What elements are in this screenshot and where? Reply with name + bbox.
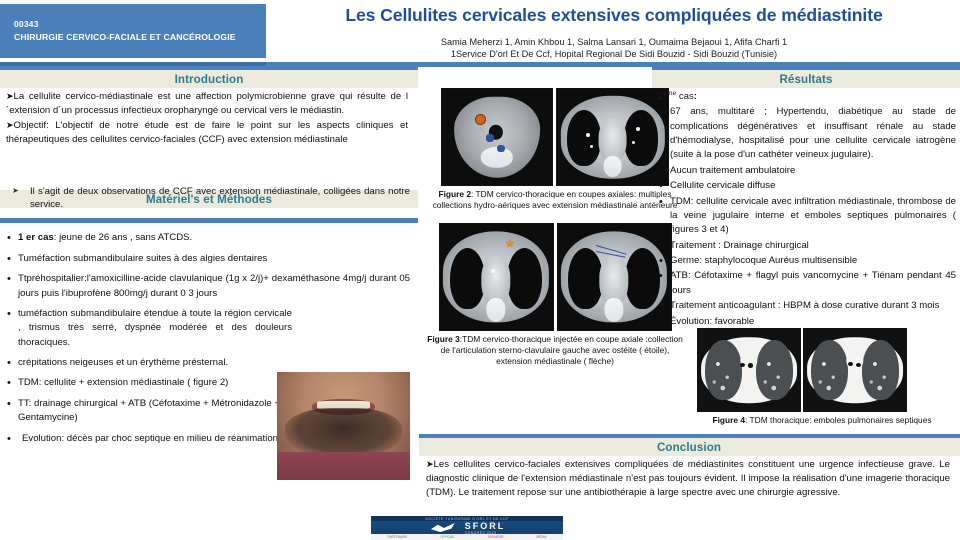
poster-root: 00343 CHIRURGIE CERVICO-FACIALE ET CANCÉ… bbox=[0, 0, 960, 540]
intro-text-2: Objectif: L'objectif de notre étude est … bbox=[6, 120, 408, 145]
conclusion-paragraph: ➤Les cellulites cervico-faciales extensi… bbox=[418, 458, 960, 500]
logo-partner-strip: PARTENAIRE OFFICIEL SPONSOR MÉDIA bbox=[371, 534, 563, 540]
section-title-conclusion: Conclusion bbox=[657, 441, 721, 454]
photo-shirt bbox=[277, 452, 410, 480]
congress-logo: SOCIÉTÉ TUNISIENNE D'ORL ET DE CCF SFORL… bbox=[371, 516, 563, 540]
list-item: Traitement : Drainage chirurgical bbox=[652, 239, 956, 253]
ct-lung-left bbox=[567, 110, 601, 166]
column-right: 2ème cas: 67 ans, multitaré ; Hypertendu… bbox=[652, 88, 960, 330]
ct-lung-right bbox=[507, 248, 542, 309]
logo-name: SFORL bbox=[465, 521, 506, 531]
list-item: tuméfaction submandibulaire étendue à to… bbox=[0, 307, 410, 350]
logo-partner-3: MÉDIA bbox=[536, 535, 546, 539]
list-item: Évolution: favorable bbox=[652, 315, 956, 329]
list-item: 1 er cas: jeune de 26 ans , sans ATCDS. bbox=[0, 231, 410, 245]
list-item: TDM: cellulite cervicale avec infiltrati… bbox=[652, 195, 956, 238]
ct-lung-window bbox=[804, 329, 906, 411]
section-header-introduction: Introduction bbox=[0, 66, 418, 88]
figure-3-label: Figure 3 bbox=[427, 334, 460, 344]
figure-3-caption: Figure 3:TDM cervico-thoracique injectée… bbox=[420, 331, 690, 367]
bullet-arrow-icon: ➤ bbox=[426, 460, 434, 470]
intro-paragraph-2: ➤Objectif: L'objectif de notre étude est… bbox=[0, 119, 418, 147]
ct-image-lung-window-2 bbox=[803, 328, 907, 412]
ct-hilum bbox=[748, 363, 753, 367]
authors-line: Samia Meherzi 1, Amin Khbou 1, Salma Lan… bbox=[272, 36, 956, 48]
conclusion-body: ➤Les cellulites cervico-faciales extensi… bbox=[418, 458, 960, 500]
logo-partner-1: OFFICIEL bbox=[440, 535, 454, 539]
affiliation-line: 1Service D'orl Et De Ccf, Hopital Region… bbox=[272, 48, 956, 60]
introduction-body: ➤La cellulite cervico-médiastinale est u… bbox=[0, 88, 418, 147]
section-title-resultats: Résultats bbox=[779, 73, 832, 86]
spacer bbox=[420, 211, 690, 223]
logo-main: SFORL CONGRÈS 2023 bbox=[371, 521, 563, 534]
logo-partner-0: PARTENAIRE bbox=[387, 535, 407, 539]
column-middle: Figure 2: TDM cervico-thoracique en coup… bbox=[420, 88, 690, 367]
ct-vertebra bbox=[603, 156, 622, 177]
abstract-code: 00343 bbox=[14, 18, 266, 31]
figure-4-caption-text: : TDM thoracique: emboles pulmonaires se… bbox=[745, 415, 932, 425]
ct-lung-field-right bbox=[756, 340, 793, 399]
figure-4-label: Figure 4 bbox=[712, 415, 745, 425]
section-header-resultats: Résultats bbox=[652, 66, 960, 88]
department-label: CHIRURGIE CERVICO-FACIALE ET CANCÉROLOGI… bbox=[14, 31, 266, 44]
logo-bird-icon bbox=[429, 522, 459, 533]
ct-hilum bbox=[848, 362, 853, 366]
bullet-arrow-icon: ➤ bbox=[6, 121, 14, 131]
logo-text-block: SFORL CONGRÈS 2023 bbox=[465, 521, 506, 535]
list-item: crépitations neigeuses et un érythème pr… bbox=[0, 356, 410, 370]
intro-paragraph-1: ➤La cellulite cervico-médiastinale est u… bbox=[0, 90, 418, 118]
ct-image-lung-window-1 bbox=[697, 328, 801, 412]
materiel-arrow-item: Il s'agit de deux observations de CCF av… bbox=[0, 185, 418, 213]
header-title-block: Les Cellulites cervicales extensives com… bbox=[272, 2, 956, 61]
column-divider bbox=[418, 88, 419, 488]
figure-4-images bbox=[697, 328, 907, 412]
figure-3-images: ★ bbox=[420, 223, 690, 331]
ct-image-neck-axial bbox=[441, 88, 553, 186]
case2-word: cas bbox=[676, 91, 694, 102]
ct-lung-left bbox=[568, 248, 603, 309]
ct-hilum bbox=[856, 363, 861, 367]
ct-air-bubble bbox=[586, 133, 590, 137]
ct-arrow-marker-2 bbox=[497, 145, 505, 153]
list-item: Ttpréhospitalier:l'amoxicilline-acide cl… bbox=[0, 272, 410, 301]
materiel-divider bbox=[0, 218, 418, 223]
star-marker-icon: ★ bbox=[505, 238, 515, 249]
list-item: Germe: staphylocoque Auréus multisensibl… bbox=[652, 254, 956, 268]
ct-lung-left bbox=[450, 248, 485, 309]
figure-4-caption: Figure 4: TDM thoracique: emboles pulmon… bbox=[684, 415, 960, 425]
list-item: Aucun traitement ambulatoire bbox=[652, 164, 956, 178]
figure-2-label: Figure 2 bbox=[438, 189, 471, 199]
case1-text-0: : jeune de 26 ans , sans ATCDS. bbox=[54, 232, 192, 243]
case1-label: 1 er cas bbox=[18, 232, 54, 243]
ct-image-sternoclavicular: ★ bbox=[439, 223, 554, 331]
figure-2-images bbox=[420, 88, 690, 186]
conclusion-text: Les cellulites cervico-faciales extensiv… bbox=[426, 459, 950, 498]
logo-partner-2: SPONSOR bbox=[488, 535, 504, 539]
spacer bbox=[0, 147, 418, 181]
header-badge: 00343 CHIRURGIE CERVICO-FACIALE ET CANCÉ… bbox=[0, 4, 266, 58]
section-header-conclusion: Conclusion bbox=[418, 434, 960, 456]
logo-subtitle: CONGRÈS 2023 bbox=[465, 531, 506, 535]
intro-text-1: La cellulite cervico-médiastinale est un… bbox=[6, 91, 408, 116]
case2-bullet-list: 67 ans, multitaré ; Hypertendu, diabétiq… bbox=[652, 105, 960, 329]
case2-heading: 2ème cas: bbox=[652, 88, 960, 102]
list-item: Cellulite cervicale diffuse bbox=[652, 179, 956, 193]
ct-lung-field-left bbox=[811, 340, 848, 399]
list-item: 67 ans, multitaré ; Hypertendu, diabétiq… bbox=[652, 105, 956, 163]
ct-lung-field-left bbox=[705, 340, 742, 399]
list-item: Traitement anticoagulant : HBPM à dose c… bbox=[652, 299, 956, 313]
list-item: Tuméfaction submandibulaire suites à des… bbox=[0, 252, 410, 266]
bullet-arrow-icon: ➤ bbox=[6, 92, 14, 102]
section-title-introduction: Introduction bbox=[175, 73, 244, 86]
figure-2-caption: Figure 2: TDM cervico-thoracique en coup… bbox=[420, 186, 690, 211]
figure-3-caption-text: :TDM cervico-thoracique injectée en coup… bbox=[441, 334, 683, 366]
list-item: ATB: Céfotaxime + flagyl puis vancomycin… bbox=[652, 269, 956, 298]
case2-ordinal: ème bbox=[663, 90, 676, 97]
page-title: Les Cellulites cervicales extensives com… bbox=[272, 2, 956, 27]
ct-lung-window bbox=[698, 329, 800, 411]
ct-arrow-marker-1 bbox=[486, 134, 494, 142]
case2-colon: : bbox=[694, 91, 697, 102]
ct-collection-marker bbox=[476, 115, 485, 124]
clinical-photo-patient bbox=[277, 372, 410, 480]
ct-lung-field-right bbox=[862, 340, 899, 399]
ct-hilum bbox=[740, 363, 745, 367]
